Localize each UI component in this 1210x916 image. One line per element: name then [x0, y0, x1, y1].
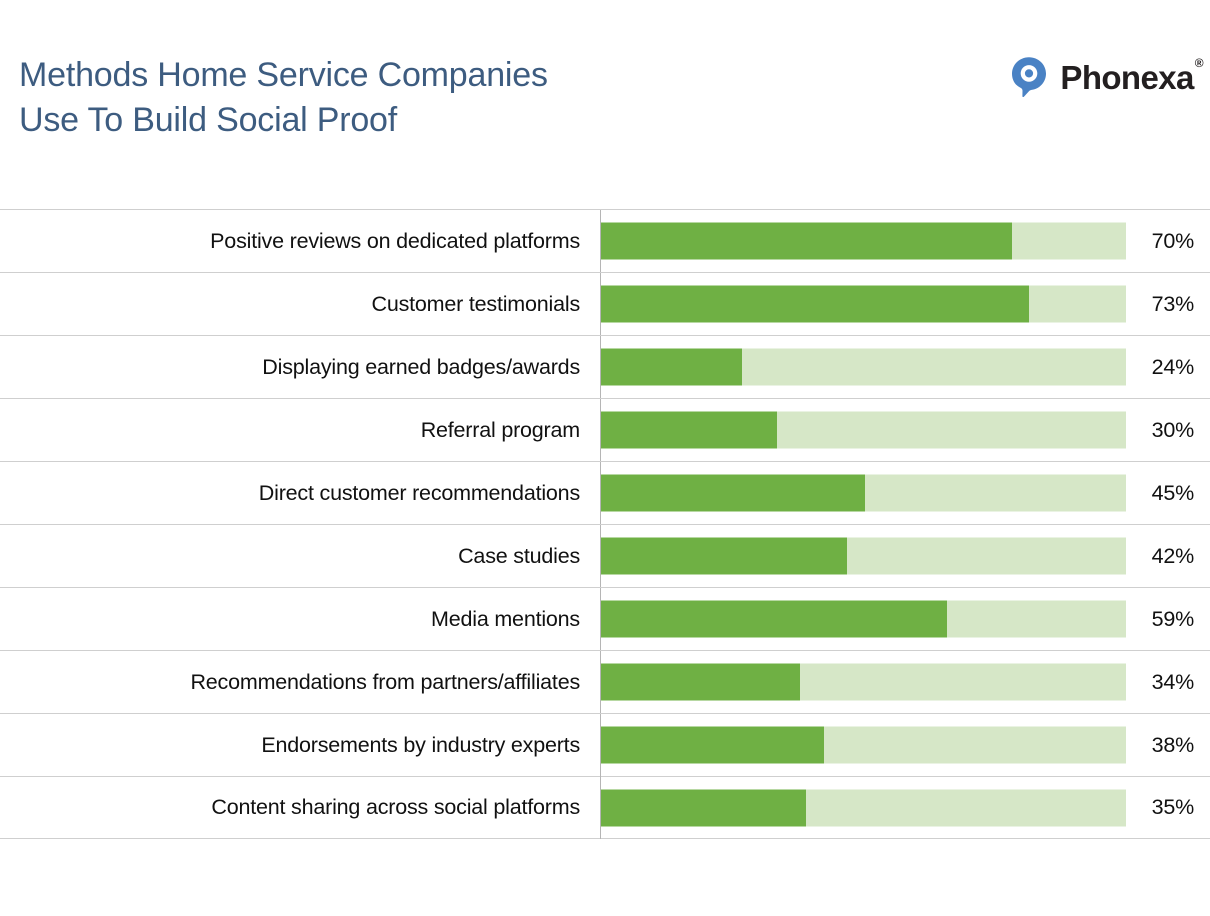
bar-fill — [601, 538, 847, 575]
bar-value-label: 30% — [1130, 418, 1202, 443]
bar-track — [601, 349, 1126, 386]
bar-track — [601, 664, 1126, 701]
bar-fill — [601, 789, 806, 826]
registered-trademark-icon: ® — [1195, 56, 1203, 70]
chart-row: Displaying earned badges/awards24% — [0, 335, 1210, 398]
bar-fill — [601, 601, 947, 638]
chart-header: Methods Home Service Companies Use To Bu… — [0, 0, 1210, 190]
bar-plot-area — [600, 525, 1130, 588]
chart-row: Referral program30% — [0, 398, 1210, 461]
bar-plot-area — [600, 336, 1130, 399]
bar-track — [601, 286, 1126, 323]
bar-value-label: 73% — [1130, 292, 1202, 317]
bar-category-label: Direct customer recommendations — [0, 481, 600, 506]
horizontal-bar-chart: Positive reviews on dedicated platforms7… — [0, 209, 1210, 839]
bar-plot-area — [600, 714, 1130, 777]
bar-value-label: 24% — [1130, 355, 1202, 380]
bar-track — [601, 727, 1126, 764]
bar-track — [601, 475, 1126, 512]
bar-category-label: Content sharing across social platforms — [0, 795, 600, 820]
chart-row: Recommendations from partners/affiliates… — [0, 650, 1210, 713]
phonexa-wordmark: Phonexa® — [1060, 61, 1202, 94]
bar-category-label: Case studies — [0, 544, 600, 569]
bar-plot-area — [600, 776, 1130, 839]
chart-row: Customer testimonials73% — [0, 272, 1210, 335]
bar-category-label: Endorsements by industry experts — [0, 733, 600, 758]
bar-category-label: Referral program — [0, 418, 600, 443]
bar-value-label: 42% — [1130, 544, 1202, 569]
bar-value-label: 34% — [1130, 670, 1202, 695]
bar-value-label: 45% — [1130, 481, 1202, 506]
chart-row: Content sharing across social platforms3… — [0, 776, 1210, 839]
bar-value-label: 70% — [1130, 229, 1202, 254]
bar-category-label: Customer testimonials — [0, 292, 600, 317]
chart-row: Media mentions59% — [0, 587, 1210, 650]
bar-value-label: 59% — [1130, 607, 1202, 632]
bar-category-label: Displaying earned badges/awards — [0, 355, 600, 380]
bar-plot-area — [600, 273, 1130, 336]
bar-fill — [601, 412, 777, 449]
bar-track — [601, 601, 1126, 638]
chart-row: Case studies42% — [0, 524, 1210, 587]
phonexa-wordmark-text: Phonexa — [1060, 59, 1193, 96]
bar-fill — [601, 727, 824, 764]
bar-plot-area — [600, 462, 1130, 525]
bar-fill — [601, 349, 742, 386]
chart-row: Endorsements by industry experts38% — [0, 713, 1210, 776]
bar-plot-area — [600, 588, 1130, 651]
bar-value-label: 35% — [1130, 795, 1202, 820]
bar-track — [601, 538, 1126, 575]
chart-row: Positive reviews on dedicated platforms7… — [0, 209, 1210, 272]
phonexa-logo: Phonexa® — [1008, 52, 1202, 100]
bar-track — [601, 789, 1126, 826]
bar-fill — [601, 223, 1012, 260]
bar-category-label: Media mentions — [0, 607, 600, 632]
bar-track — [601, 223, 1126, 260]
chart-row: Direct customer recommendations45% — [0, 461, 1210, 524]
bar-fill — [601, 475, 865, 512]
phonexa-pin-icon — [1008, 55, 1050, 97]
page-title: Methods Home Service Companies Use To Bu… — [19, 53, 548, 143]
bar-category-label: Positive reviews on dedicated platforms — [0, 229, 600, 254]
bar-fill — [601, 286, 1029, 323]
bar-plot-area — [600, 651, 1130, 714]
bar-plot-area — [600, 210, 1130, 273]
bar-fill — [601, 664, 800, 701]
bar-plot-area — [600, 399, 1130, 462]
bar-track — [601, 412, 1126, 449]
bar-category-label: Recommendations from partners/affiliates — [0, 670, 600, 695]
bar-value-label: 38% — [1130, 733, 1202, 758]
